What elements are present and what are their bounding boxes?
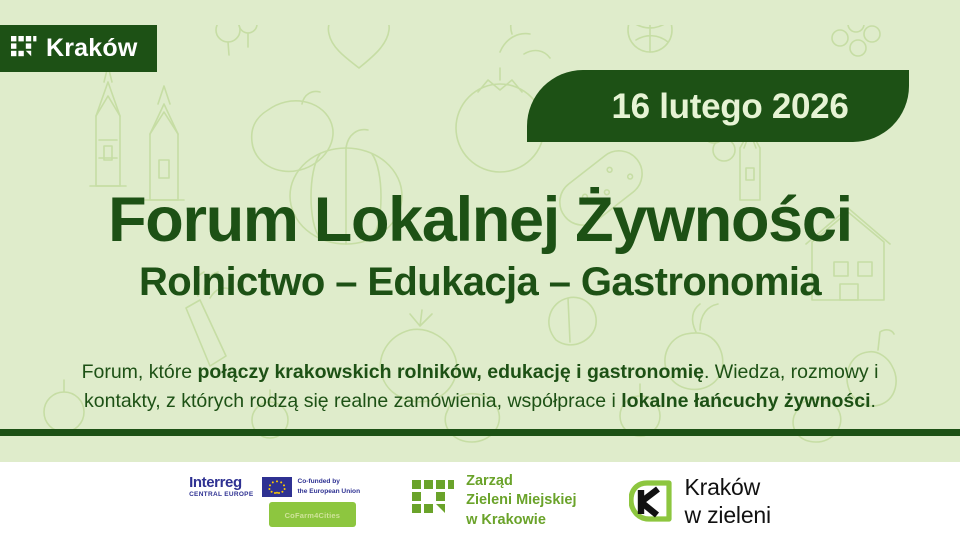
interreg-tagline: CENTRAL EUROPE: [189, 492, 253, 499]
eu-line-2: the European Union: [297, 488, 360, 495]
kwz-line-2: w zieleni: [685, 502, 771, 528]
event-description: Forum, które połączy krakowskich rolnikó…: [48, 358, 912, 417]
lead-bold-1: połączy krakowskich rolników, edukację i…: [198, 361, 704, 383]
event-subtitle: Rolnictwo – Edukacja – Gastronomia: [0, 262, 960, 302]
lead-part-1: Forum, które: [82, 361, 198, 383]
lead-bold-2: lokalne łańcuchy żywności: [621, 390, 870, 412]
logo-krakow-w-zieleni: Kraków w zieleni: [629, 473, 771, 529]
event-date-text: 16 lutego 2026: [587, 89, 848, 124]
krakow-grid-icon: [412, 480, 454, 522]
eu-funding-lockup: Co-funded by the European Union: [262, 477, 360, 497]
eu-flag-icon: [262, 477, 292, 497]
event-date-badge: 16 lutego 2026: [527, 70, 909, 142]
cofarm4cities-label: CoFarm4Cities: [285, 511, 341, 520]
eu-line-1: Co-funded by: [297, 478, 340, 485]
cofarm4cities-badge: CoFarm4Cities: [269, 502, 357, 527]
zzm-line-3: w Krakowie: [466, 512, 546, 528]
partner-footer: Interreg CENTRAL EUROPE: [0, 462, 960, 540]
krakow-wordmark: Kraków: [46, 36, 138, 61]
interreg-wordmark: Interreg CENTRAL EUROPE: [189, 475, 253, 499]
interreg-name: Interreg: [189, 475, 253, 490]
logo-zzm: Zarząd Zieleni Miejskiej w Krakowie: [412, 472, 576, 530]
event-title: Forum Lokalnej Żywności: [0, 189, 960, 252]
lead-part-3: .: [871, 390, 876, 412]
leaf-k-icon: [629, 479, 673, 523]
zzm-line-2: Zieleni Miejskiej: [466, 492, 576, 508]
logo-interreg: Interreg CENTRAL EUROPE: [189, 475, 360, 528]
krakow-grid-icon: [11, 36, 37, 62]
promo-banner: Kraków 16 lutego 2026 Forum Lokalnej Żyw…: [0, 0, 960, 540]
krakow-w-zieleni-wordmark: Kraków w zieleni: [685, 473, 771, 529]
krakow-brand-tab: Kraków: [0, 25, 157, 72]
zzm-wordmark: Zarząd Zieleni Miejskiej w Krakowie: [466, 472, 576, 530]
kwz-line-1: Kraków: [685, 474, 761, 500]
eu-funding-text: Co-funded by the European Union: [297, 477, 360, 495]
zzm-line-1: Zarząd: [466, 473, 513, 489]
section-divider: [0, 429, 960, 436]
top-strip: [0, 0, 960, 25]
